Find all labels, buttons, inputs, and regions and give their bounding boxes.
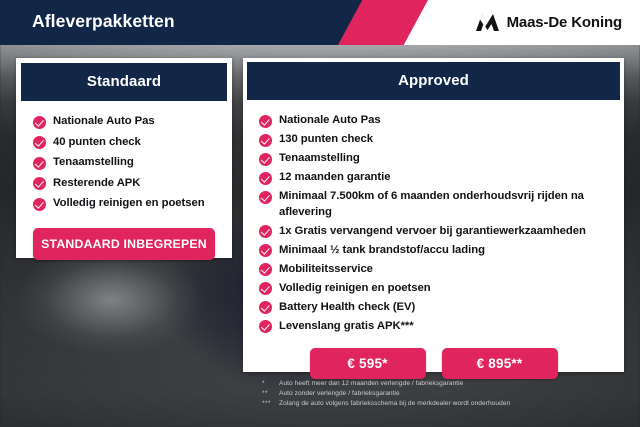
price-button-895[interactable]: € 895**: [442, 348, 558, 379]
footnote-block: * Auto heeft meer dan 12 maanden verleng…: [262, 379, 510, 410]
slide-canvas: Afleverpakketten Maas-De Koning Standaar…: [0, 0, 640, 427]
feature-label: 130 punten check: [279, 132, 373, 148]
feature-label: Volledig reinigen en poetsen: [53, 196, 205, 212]
check-icon: [33, 116, 46, 129]
feature-item: Minimaal 7.500km of 6 maanden onderhouds…: [259, 189, 624, 220]
feature-label: Nationale Auto Pas: [53, 114, 155, 130]
maas-de-koning-logo-icon: [475, 13, 500, 32]
footnote-item: *** Zolang de auto volgens fabrieksschem…: [262, 399, 510, 409]
card-title-approved: Approved: [247, 62, 620, 100]
check-icon: [259, 244, 272, 257]
feature-label: 40 punten check: [53, 135, 141, 151]
feature-label: Levenslang gratis APK***: [279, 319, 414, 335]
price-button-row: € 595* € 895**: [243, 348, 624, 379]
feature-item: Resterende APK: [33, 176, 232, 192]
check-icon: [259, 153, 272, 166]
price-button-595[interactable]: € 595*: [310, 348, 426, 379]
footnote-marker: **: [262, 389, 279, 399]
check-icon: [259, 301, 272, 314]
footnote-marker: ***: [262, 399, 279, 409]
footnote-marker: *: [262, 379, 279, 389]
feature-item: Minimaal ½ tank brandstof/accu lading: [259, 243, 624, 259]
feature-label: Tenaamstelling: [279, 151, 360, 167]
feature-label: Volledig reinigen en poetsen: [279, 281, 431, 297]
footnote-text: Zolang de auto volgens fabrieksschema bi…: [279, 399, 510, 409]
check-icon: [33, 157, 46, 170]
feature-label: Resterende APK: [53, 176, 140, 192]
feature-item: Tenaamstelling: [33, 155, 232, 171]
check-icon: [259, 191, 272, 204]
package-card-approved: Approved Nationale Auto Pas 130 punten c…: [243, 58, 624, 372]
check-icon: [33, 177, 46, 190]
footnote-text: Auto heeft meer dan 12 maanden verlengde…: [279, 379, 463, 389]
feature-item: 40 punten check: [33, 135, 232, 151]
brand-name: Maas-De Koning: [507, 14, 622, 31]
footnote-text: Auto zonder verlengde / fabrieksgarantie: [279, 389, 400, 399]
feature-label: 12 maanden garantie: [279, 170, 390, 186]
check-icon: [259, 225, 272, 238]
feature-item: 12 maanden garantie: [259, 170, 624, 186]
feature-label: Mobiliteitsservice: [279, 262, 373, 278]
feature-item: Volledig reinigen en poetsen: [33, 196, 232, 212]
feature-item: Mobiliteitsservice: [259, 262, 624, 278]
feature-list-approved: Nationale Auto Pas 130 punten check Tena…: [259, 100, 624, 338]
check-icon: [259, 134, 272, 147]
feature-item: Nationale Auto Pas: [33, 114, 232, 130]
card-title-standard: Standaard: [21, 63, 227, 101]
check-icon: [33, 136, 46, 149]
feature-label: Minimaal ½ tank brandstof/accu lading: [279, 243, 485, 259]
check-icon: [259, 172, 272, 185]
feature-item: Volledig reinigen en poetsen: [259, 281, 624, 297]
feature-item: 1x Gratis vervangend vervoer bij garanti…: [259, 224, 624, 240]
feature-label: Minimaal 7.500km of 6 maanden onderhouds…: [279, 189, 624, 220]
feature-list-standard: Nationale Auto Pas 40 punten check Tenaa…: [33, 101, 232, 217]
feature-label: Battery Health check (EV): [279, 300, 415, 316]
page-header: Afleverpakketten Maas-De Koning: [0, 0, 640, 45]
check-icon: [259, 320, 272, 333]
check-icon: [259, 115, 272, 128]
brand-lockup: Maas-De Koning: [475, 0, 622, 45]
feature-label: Nationale Auto Pas: [279, 113, 381, 129]
feature-item: Nationale Auto Pas: [259, 113, 624, 129]
footnote-item: * Auto heeft meer dan 12 maanden verleng…: [262, 379, 510, 389]
check-icon: [259, 263, 272, 276]
package-card-standard: Standaard Nationale Auto Pas 40 punten c…: [16, 58, 232, 258]
feature-item: Levenslang gratis APK***: [259, 319, 624, 335]
feature-item: 130 punten check: [259, 132, 624, 148]
feature-label: 1x Gratis vervangend vervoer bij garanti…: [279, 224, 586, 240]
footnote-item: ** Auto zonder verlengde / fabrieksgaran…: [262, 389, 510, 399]
standard-included-button[interactable]: STANDAARD INBEGREPEN: [33, 228, 215, 260]
feature-item: Tenaamstelling: [259, 151, 624, 167]
feature-label: Tenaamstelling: [53, 155, 134, 171]
check-icon: [33, 198, 46, 211]
check-icon: [259, 282, 272, 295]
page-title: Afleverpakketten: [32, 11, 175, 32]
feature-item: Battery Health check (EV): [259, 300, 624, 316]
